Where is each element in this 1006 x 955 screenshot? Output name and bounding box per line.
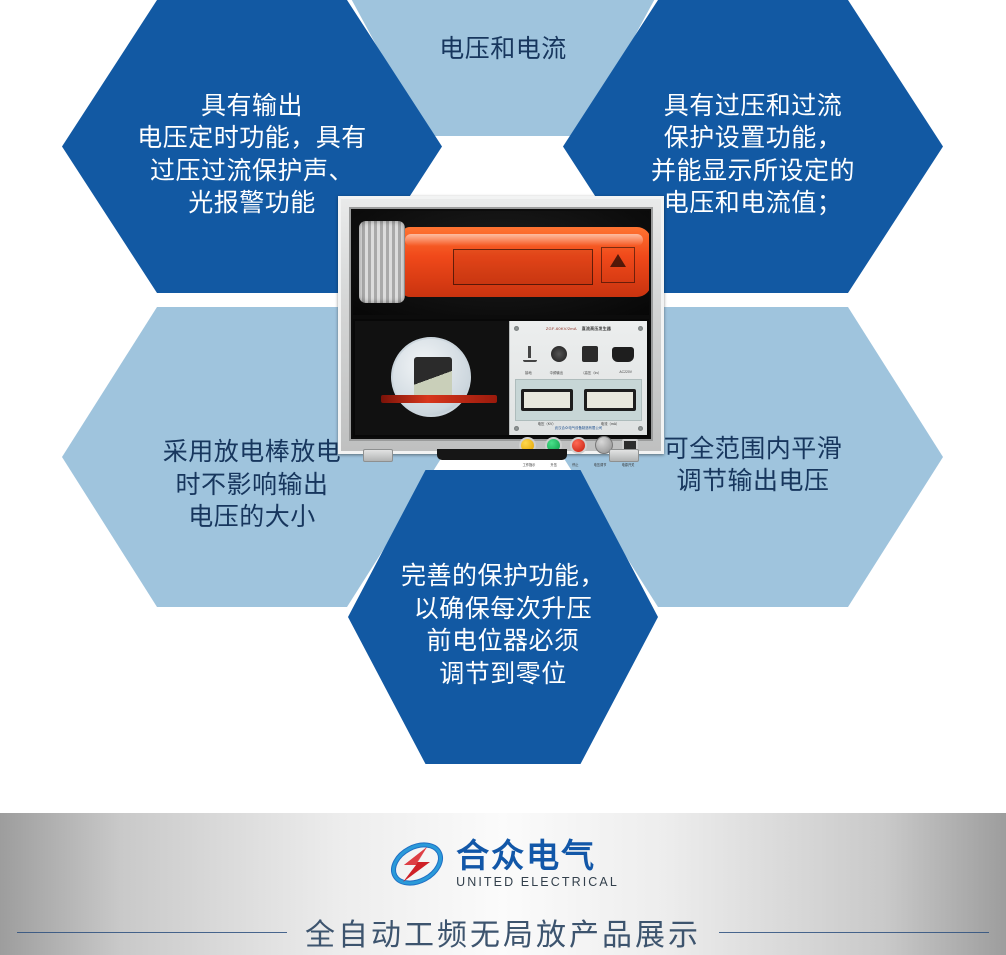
discharge-meter [391,337,471,417]
case-handle [437,449,567,460]
product-case: ZGF-60KV/2mA直流高压发生器 [338,196,664,454]
cylinder-highlight [405,234,643,246]
high-voltage-warning-icon [601,247,635,283]
logo-chinese-name: 合众电气 [456,839,596,872]
logo-swoosh-bolt-icon [387,834,447,894]
panel-ports [516,339,641,369]
product-lower-bay: ZGF-60KV/2mA直流高压发生器 [353,319,649,437]
product-upper-bay [353,211,649,315]
voltage-meter [521,389,573,411]
ac-inlet-port-icon[interactable] [612,347,634,362]
button-label-3: 电压调节 [594,462,607,468]
panel-name: 直流高压发生器 [582,326,611,331]
button-label-2: 停止 [572,462,578,468]
panel-brand-line: 武汉合众电气设备制造有限公司 [510,425,647,430]
hexagon-top-left-text: 具有输出 电压定时功能，具有 过压过流保护声、 光报警功能 [131,90,373,220]
hv-cylinder [401,227,649,297]
panel-model: ZGF-60KV/2mA [546,326,577,331]
product-case-interior: ZGF-60KV/2mA直流高压发生器 [349,207,653,441]
hexagon-top-center-text: 电压和电流 [433,33,573,66]
cylinder-label [453,249,593,285]
stop-button[interactable] [570,437,587,454]
case-latch-right [609,449,639,462]
hexagon-top-right-text: 具有过压和过流 保护设置功能， 并能显示所设定的 电压和电流值； [645,90,861,220]
footer-title-row: 全自动工频无局放产品展示 [0,909,1006,955]
current-meter [584,389,636,411]
title-rule-right [719,932,989,933]
control-panel: ZGF-60KV/2mA直流高压发生器 [509,321,647,435]
panel-meters [515,379,642,421]
panel-screw [638,326,643,331]
footer-sub-title: 全自动工频无局放产品展示 [287,910,719,954]
button-label-4: 电源开关 [622,462,635,468]
mid-frequency-output-port-icon[interactable] [551,346,567,362]
panel-title: ZGF-60KV/2mA直流高压发生器 [510,326,647,332]
accessory-foam-tray [355,321,527,435]
company-logo: 合众电气 UNITED ELECTRICAL [0,831,1006,897]
button-label-0: 工作指示 [523,462,536,468]
case-latch-left [363,449,393,462]
hexagon-bottom-center-text: 完善的保护功能， 以确保每次升压 前电位器必须 调节到零位 [395,560,611,690]
logo-wordmark: 合众电气 UNITED ELECTRICAL [456,839,619,889]
panel-screw [514,326,519,331]
port-label-2: （高压（kv） [581,370,601,376]
button-label-1: 升压 [551,462,557,468]
high-voltage-port-icon[interactable] [582,346,598,362]
discharge-rod [381,395,497,403]
logo-english-name: UNITED ELECTRICAL [456,875,619,889]
promo-page: 电压和电流 具有输出 电压定时功能，具有 过压过流保护声、 光报警功能 具有过压… [0,0,1006,955]
panel-button-labels: 工作指示 升压 停止 电压调节 电源开关 [515,462,642,468]
ground-port-icon[interactable] [523,346,537,362]
port-label-0: 接地 [525,370,532,376]
feature-hexagon-grid: 电压和电流 具有输出 电压定时功能，具有 过压过流保护声、 光报警功能 具有过压… [0,0,1006,800]
panel-port-labels: 接地 中频输出 （高压（kv） AC220V [516,370,641,376]
title-rule-left [17,932,287,933]
hexagon-bottom-left-text: 采用放电棒放电 时不影响输出 电压的大小 [157,436,348,534]
port-label-1: 中频输出 [550,370,564,376]
hexagon-bottom-right-text: 可全范围内平滑 调节输出电压 [658,433,849,498]
port-label-3: AC220V [619,370,632,376]
page-footer: 合众电气 UNITED ELECTRICAL 全自动工频无局放产品展示 [0,813,1006,955]
cylinder-end-cap [359,221,405,303]
product-photo: ZGF-60KV/2mA直流高压发生器 [338,196,664,454]
